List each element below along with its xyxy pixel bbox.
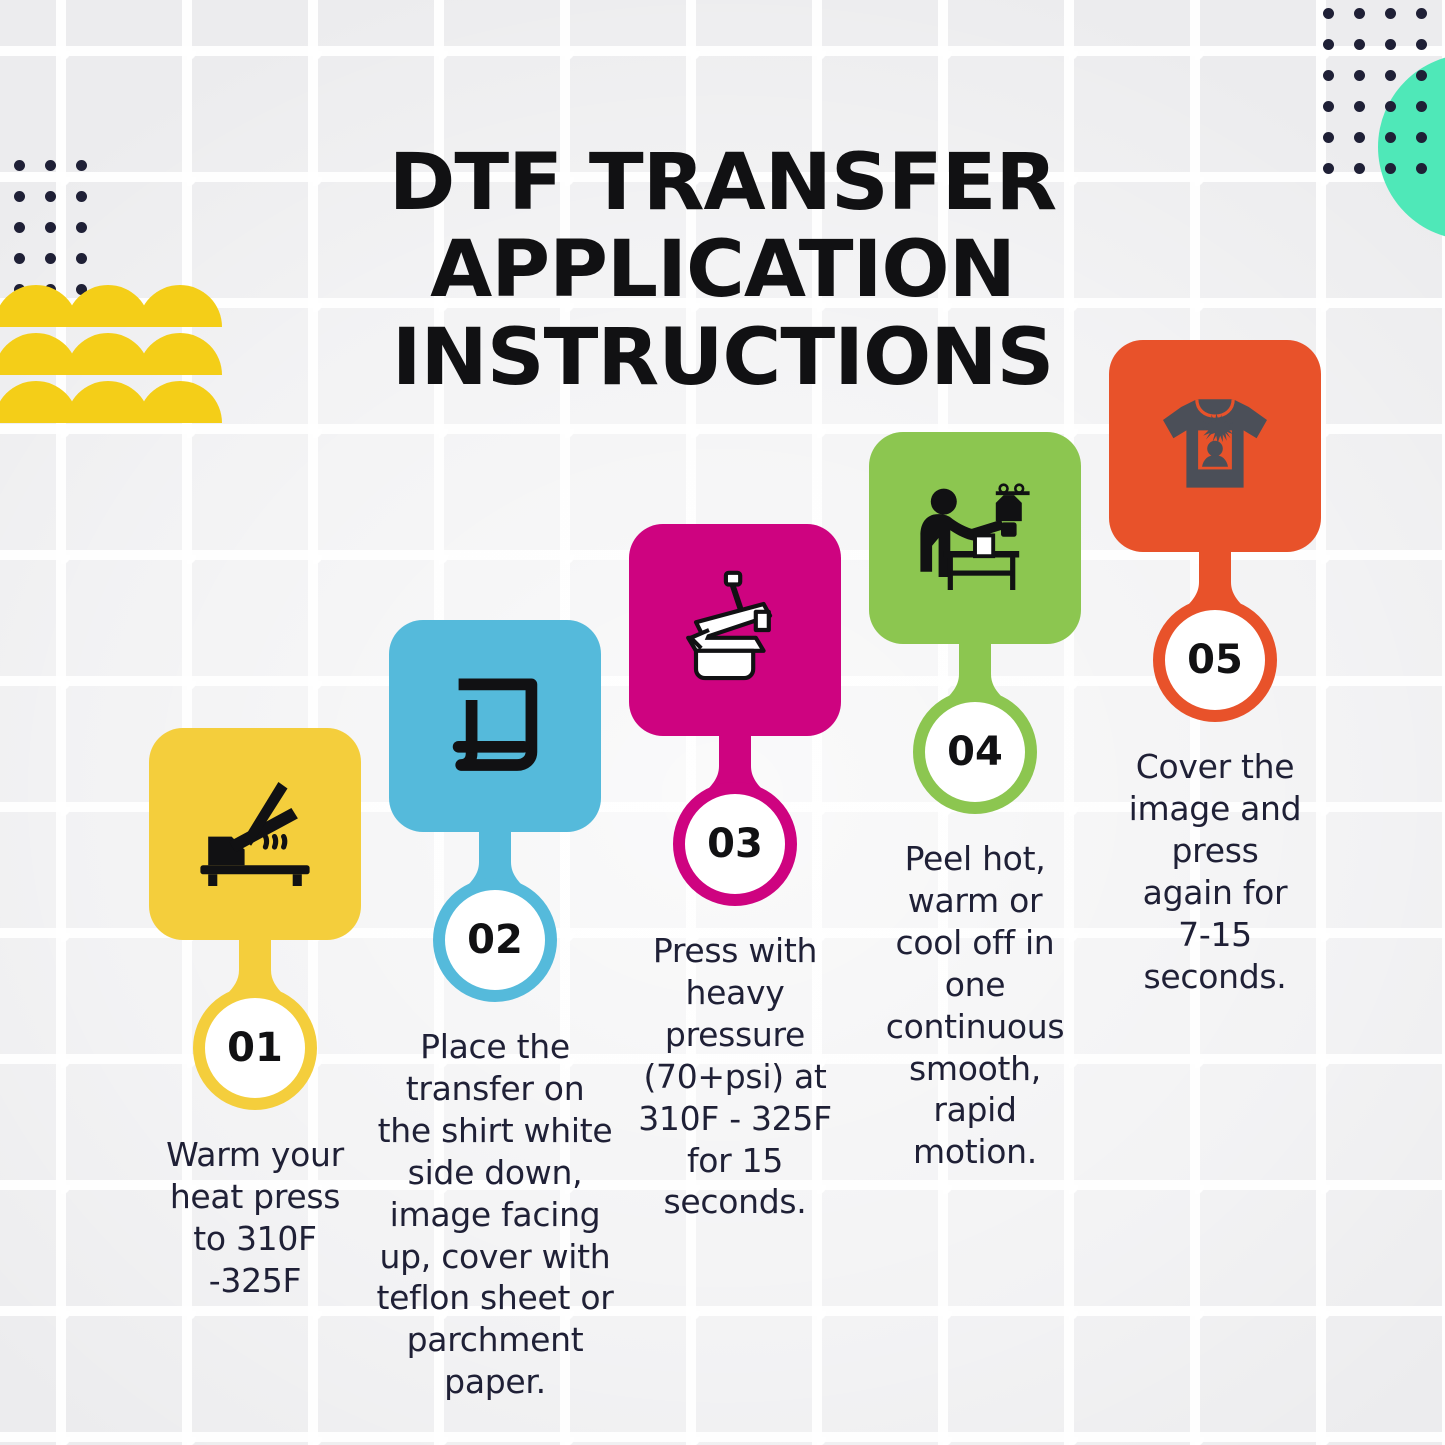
step-description-05: Cover the image and press again for 7-15… — [1089, 746, 1341, 997]
step-number-badge-02: 02 — [433, 878, 557, 1002]
step-description-01: Warm your heat press to 310F -325F — [129, 1134, 381, 1302]
peel-transfer-person-icon — [910, 473, 1040, 603]
step-number-label: 03 — [707, 821, 763, 867]
step-icon-card-02 — [389, 620, 601, 832]
step-03: 03Press with heavy pressure (70+psi) at … — [609, 524, 861, 1223]
step-description-02: Place the transfer on the shirt white si… — [369, 1026, 621, 1403]
step-04: 04Peel hot, warm or cool off in one cont… — [849, 432, 1101, 1173]
step-connector-drop-05: 05 — [1089, 546, 1341, 736]
heat-press-open-icon — [190, 769, 320, 899]
step-01: 01Warm your heat press to 310F -325F — [129, 728, 381, 1302]
step-icon-card-01 — [149, 728, 361, 940]
step-number-label: 01 — [227, 1025, 283, 1071]
steps-container: 01Warm your heat press to 310F -325F 02P… — [0, 0, 1445, 1445]
step-number-badge-01: 01 — [193, 986, 317, 1110]
step-number-label: 02 — [467, 917, 523, 963]
step-connector-drop-03: 03 — [609, 730, 861, 920]
step-connector-drop-04: 04 — [849, 638, 1101, 828]
step-icon-card-03 — [629, 524, 841, 736]
step-number-badge-05: 05 — [1153, 598, 1277, 722]
step-icon-card-05 — [1109, 340, 1321, 552]
step-number-badge-03: 03 — [673, 782, 797, 906]
step-number-label: 05 — [1187, 637, 1243, 683]
step-02: 02Place the transfer on the shirt white … — [369, 620, 621, 1403]
printed-tshirt-icon — [1150, 381, 1280, 511]
transfer-sheet-icon — [430, 661, 560, 791]
step-connector-drop-01: 01 — [129, 934, 381, 1124]
step-connector-drop-02: 02 — [369, 826, 621, 1016]
step-number-label: 04 — [947, 729, 1003, 775]
step-description-03: Press with heavy pressure (70+psi) at 31… — [609, 930, 861, 1223]
step-05: 05Cover the image and press again for 7-… — [1089, 340, 1341, 997]
heat-press-machine-icon — [670, 565, 800, 695]
step-number-badge-04: 04 — [913, 690, 1037, 814]
step-icon-card-04 — [869, 432, 1081, 644]
step-description-04: Peel hot, warm or cool off in one contin… — [849, 838, 1101, 1173]
